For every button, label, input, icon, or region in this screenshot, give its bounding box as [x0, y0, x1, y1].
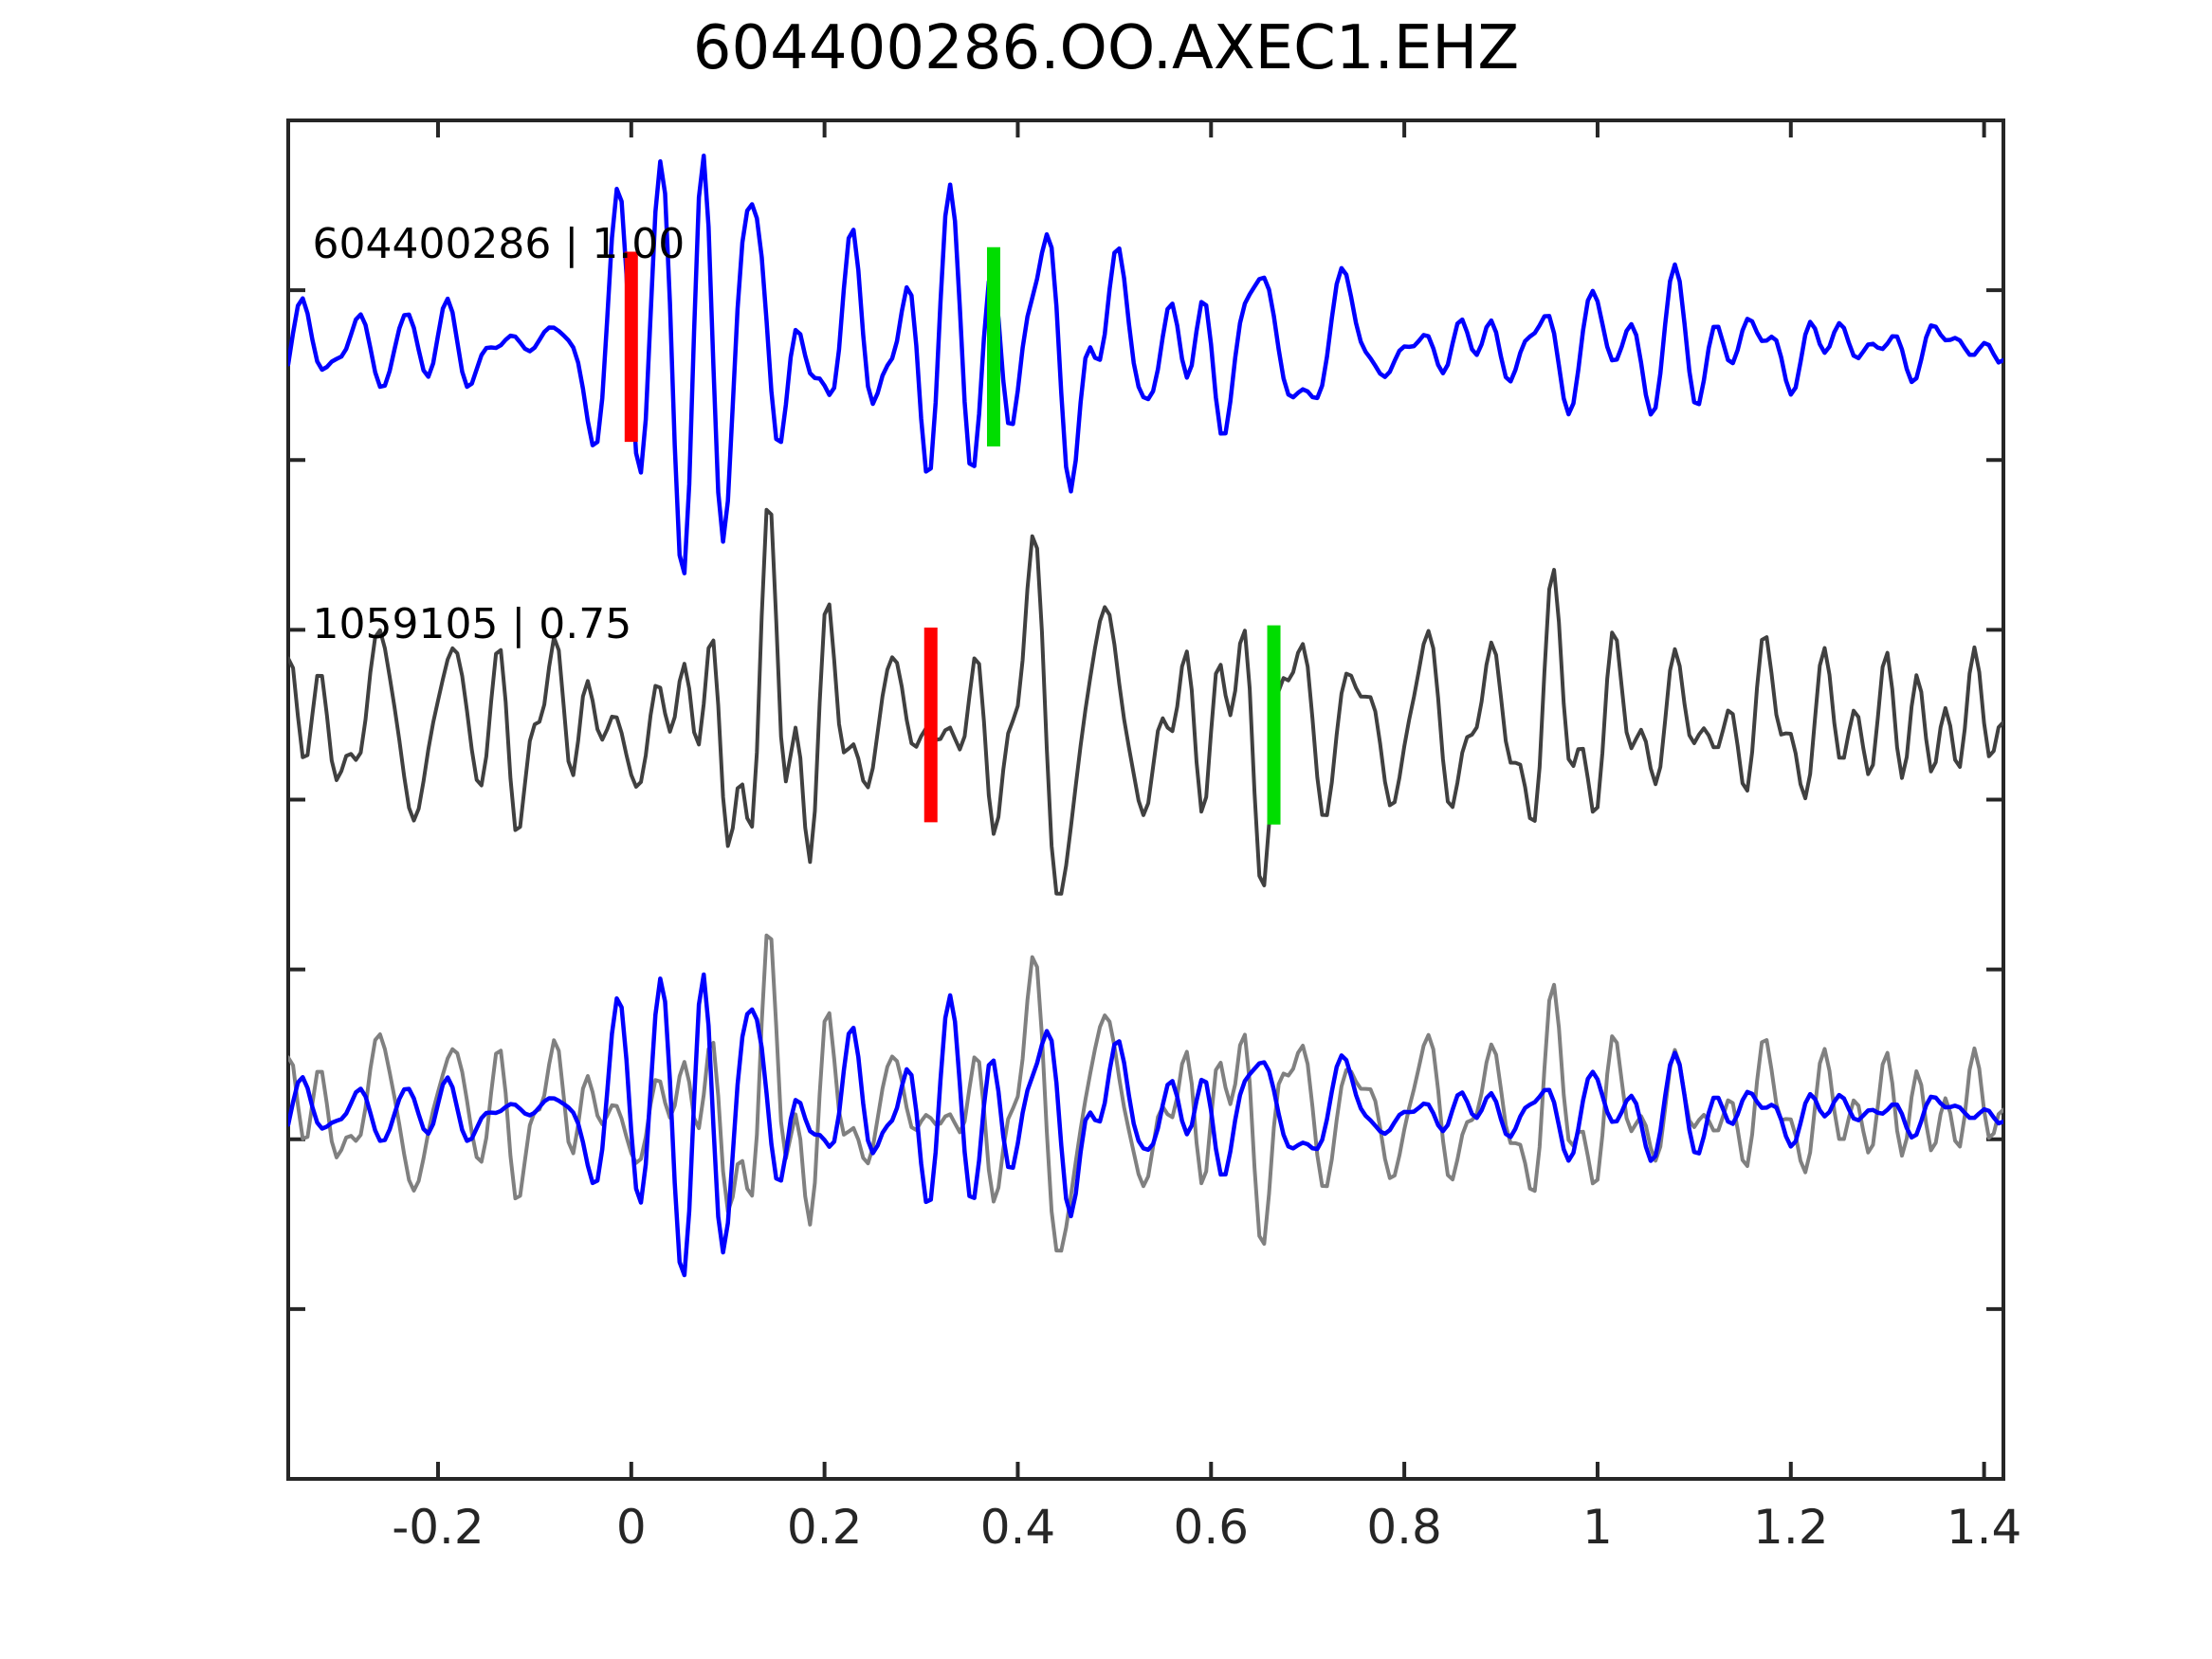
x-tick-label: 0.6 [1174, 1500, 1250, 1555]
x-tick-label: -0.2 [392, 1500, 484, 1555]
waveform-traces [288, 155, 2003, 1275]
x-tick-label: 0.2 [787, 1500, 863, 1555]
x-tick-label: 0.4 [980, 1500, 1056, 1555]
trace-label-604400286: 604400286 | 1.00 [312, 220, 685, 268]
x-tick-label: 1.4 [1947, 1500, 2022, 1555]
x-tick-label: 0.8 [1366, 1500, 1442, 1555]
x-tick-label: 1.2 [1753, 1500, 1829, 1555]
x-tick-label: 1 [1582, 1500, 1613, 1555]
seismic-waveform-figure: 604400286.OO.AXEC1.EHZ -0.200.20.40.60.8… [0, 0, 2212, 1659]
x-tick-label: 0 [616, 1500, 647, 1555]
waveform-overlay-604400286 [288, 975, 2003, 1275]
waveform-trace-604400286 [288, 155, 2003, 573]
trace-label-1059105: 1059105 | 0.75 [312, 600, 631, 648]
waveform-trace-1059105 [288, 510, 2003, 894]
